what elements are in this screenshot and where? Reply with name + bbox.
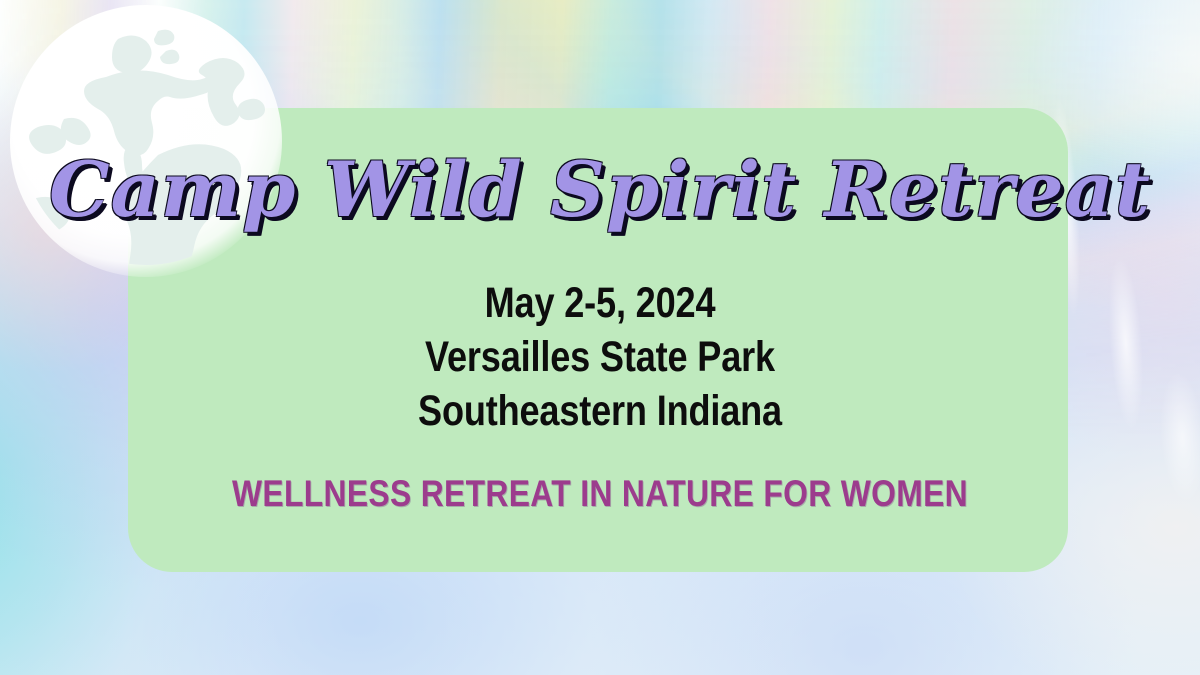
event-details: May 2-5, 2024 Versailles State Park Sout… <box>0 276 1200 438</box>
event-venue: Versailles State Park <box>96 330 1104 384</box>
globe-icon <box>10 5 282 277</box>
poster-canvas: Camp Wild Spirit Retreat May 2-5, 2024 V… <box>0 0 1200 675</box>
event-tagline: WELLNESS RETREAT IN NATURE FOR WOMEN <box>84 473 1116 515</box>
event-date: May 2-5, 2024 <box>96 276 1104 330</box>
event-location: Southeastern Indiana <box>96 384 1104 438</box>
page-title: Camp Wild Spirit Retreat <box>0 152 1200 228</box>
